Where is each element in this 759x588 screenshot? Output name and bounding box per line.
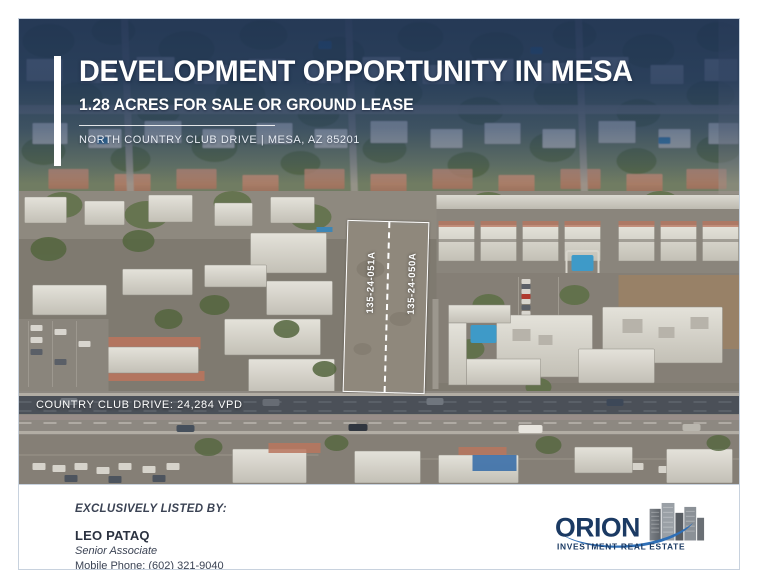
- aerial-map-image: 135-24-051A 135-24-050A COUNTRY CLUB DRI…: [19, 19, 739, 484]
- agent-phone: Mobile Phone: (602) 321-9040: [75, 559, 227, 570]
- page-subtitle: 1.28 ACRES FOR SALE OR GROUND LEASE: [79, 94, 693, 116]
- header-divider-rule: [79, 125, 275, 126]
- orion-logo: ORION INVESTMENT REAL ESTATE: [553, 501, 711, 553]
- accent-bar: [54, 56, 61, 166]
- page-frame: 135-24-051A 135-24-050A COUNTRY CLUB DRI…: [18, 18, 740, 570]
- orion-logo-svg: ORION INVESTMENT REAL ESTATE: [553, 501, 711, 553]
- traffic-count-band: COUNTRY CLUB DRIVE: 24,284 VPD: [19, 396, 739, 414]
- property-address: NORTH COUNTRY CLUB DRIVE | MESA, AZ 8520…: [79, 133, 719, 147]
- agent-title: Senior Associate: [75, 545, 227, 557]
- agent-name: LEO PATAQ: [75, 528, 227, 543]
- orion-tagline: INVESTMENT REAL ESTATE: [557, 541, 685, 551]
- parcel-label-050a: 135-24-050A: [406, 253, 419, 315]
- parcel-label-051a: 135-24-051A: [365, 251, 378, 313]
- traffic-count-label: COUNTRY CLUB DRIVE: 24,284 VPD: [19, 399, 243, 411]
- page-title: DEVELOPMENT OPPORTUNITY IN MESA: [79, 55, 693, 89]
- orion-wordmark: ORION: [555, 513, 640, 543]
- footer-bar: EXCLUSIVELY LISTED BY: LEO PATAQ Senior …: [19, 484, 739, 569]
- subject-parcel-outline: 135-24-051A 135-24-050A: [343, 220, 430, 394]
- listed-by-label: EXCLUSIVELY LISTED BY:: [75, 503, 227, 515]
- parcel-divider-dashed-line: [384, 222, 391, 392]
- header-block: DEVELOPMENT OPPORTUNITY IN MESA 1.28 ACR…: [19, 19, 739, 189]
- contact-block: EXCLUSIVELY LISTED BY: LEO PATAQ Senior …: [75, 503, 227, 570]
- flyer-page: 135-24-051A 135-24-050A COUNTRY CLUB DRI…: [0, 0, 759, 588]
- header-text-group: DEVELOPMENT OPPORTUNITY IN MESA 1.28 ACR…: [79, 55, 719, 147]
